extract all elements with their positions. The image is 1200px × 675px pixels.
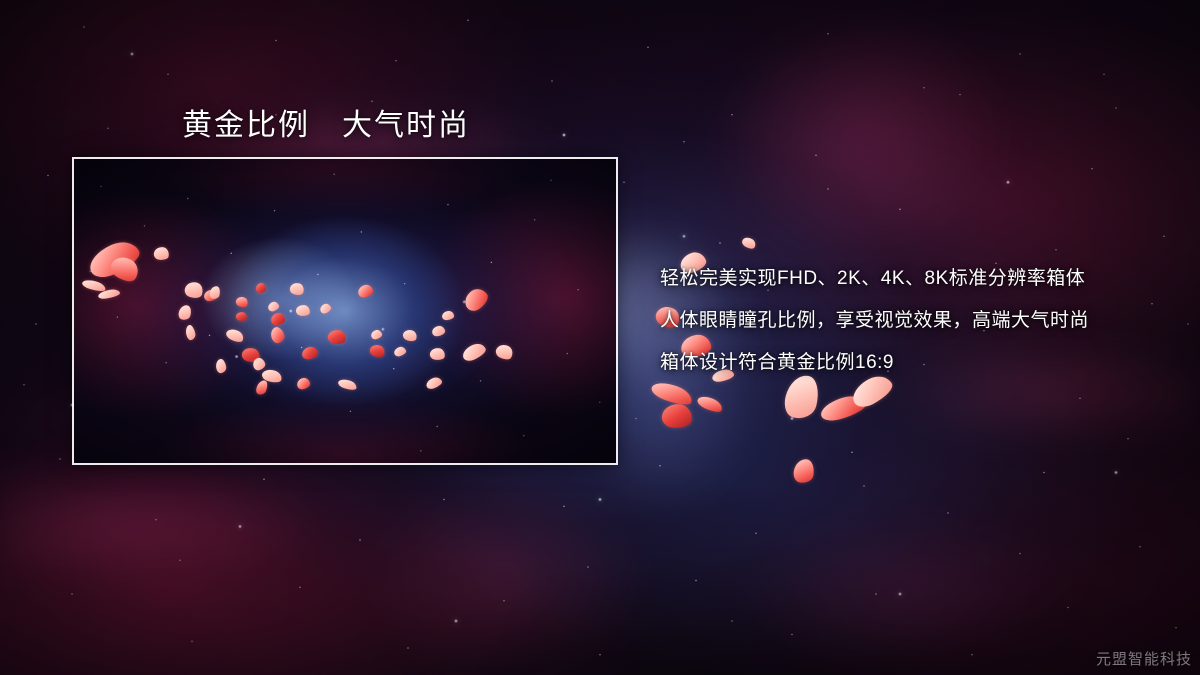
framed-image xyxy=(72,157,618,465)
body-line-1: 轻松完美实现FHD、2K、4K、8K标准分辨率箱体 xyxy=(660,258,1180,300)
framed-image-content xyxy=(74,159,616,463)
body-line-2: 人体眼睛瞳孔比例，享受视觉效果，高端大气时尚 xyxy=(660,300,1180,342)
petal xyxy=(792,457,816,484)
petal xyxy=(818,392,868,424)
petal xyxy=(661,402,693,429)
petal xyxy=(696,393,725,415)
slide-canvas: 黄金比例 大气时尚 轻松完美实现FHD、2K、4K、8K标准分辨率箱体 人体眼睛… xyxy=(0,0,1200,675)
page-title: 黄金比例 大气时尚 xyxy=(182,100,470,144)
petal xyxy=(740,235,757,251)
body-copy: 轻松完美实现FHD、2K、4K、8K标准分辨率箱体 人体眼睛瞳孔比例，享受视觉效… xyxy=(660,258,1180,384)
watermark: 元盟智能科技 xyxy=(1096,648,1192,669)
framed-vignette xyxy=(74,159,616,463)
body-line-3: 箱体设计符合黄金比例16:9 xyxy=(660,342,1180,384)
